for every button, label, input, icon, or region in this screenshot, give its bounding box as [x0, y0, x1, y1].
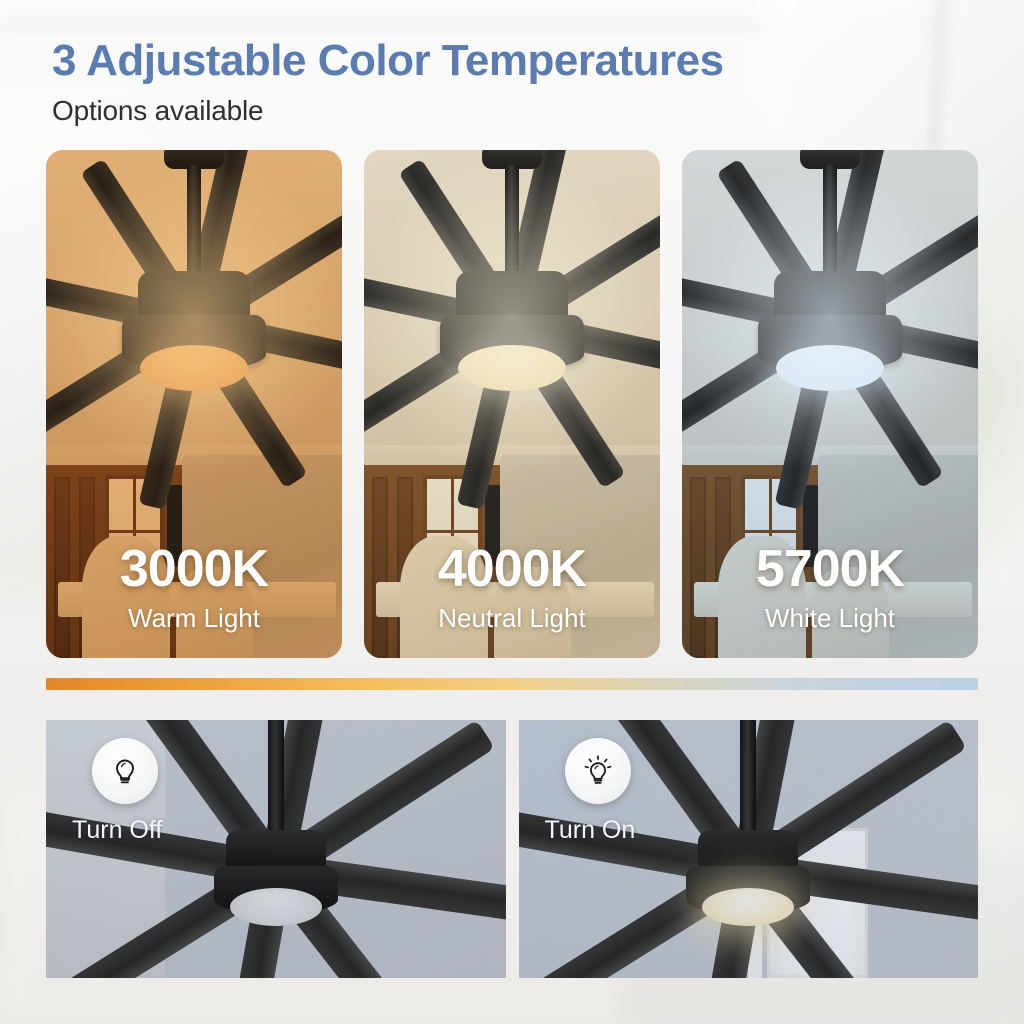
panel-caption: 5700K White Light: [682, 543, 978, 634]
page-subtitle: Options available: [52, 95, 724, 127]
kelvin-value: 3000K: [46, 543, 342, 595]
panel-caption: 4000K Neutral Light: [364, 543, 660, 634]
light-name: Warm Light: [46, 603, 342, 634]
temperature-panel-3000k[interactable]: 3000K Warm Light: [46, 150, 342, 658]
header: 3 Adjustable Color Temperatures Options …: [52, 36, 724, 127]
color-temperature-panel-row: 3000K Warm Light: [46, 150, 978, 658]
toggle-panel-turn-on[interactable]: Turn On: [519, 720, 979, 978]
gradient-divider-bar: [46, 678, 978, 690]
temperature-panel-5700k[interactable]: 5700K White Light: [682, 150, 978, 658]
kelvin-value: 5700K: [682, 543, 978, 595]
bulb-on-icon: [565, 738, 631, 804]
bulb-off-icon: [92, 738, 158, 804]
light-name: White Light: [682, 603, 978, 634]
kelvin-value: 4000K: [364, 543, 660, 595]
toggle-label: Turn Off: [72, 816, 162, 845]
light-name: Neutral Light: [364, 603, 660, 634]
light-toggle-panel-row: Turn Off: [46, 720, 978, 978]
toggle-label: Turn On: [545, 816, 636, 845]
panel-caption: 3000K Warm Light: [46, 543, 342, 634]
temperature-panel-4000k[interactable]: 4000K Neutral Light: [364, 150, 660, 658]
turn-off-badge[interactable]: Turn Off: [72, 738, 162, 845]
toggle-panel-turn-off[interactable]: Turn Off: [46, 720, 506, 978]
page-title: 3 Adjustable Color Temperatures: [52, 36, 724, 87]
turn-on-badge[interactable]: Turn On: [545, 738, 636, 845]
